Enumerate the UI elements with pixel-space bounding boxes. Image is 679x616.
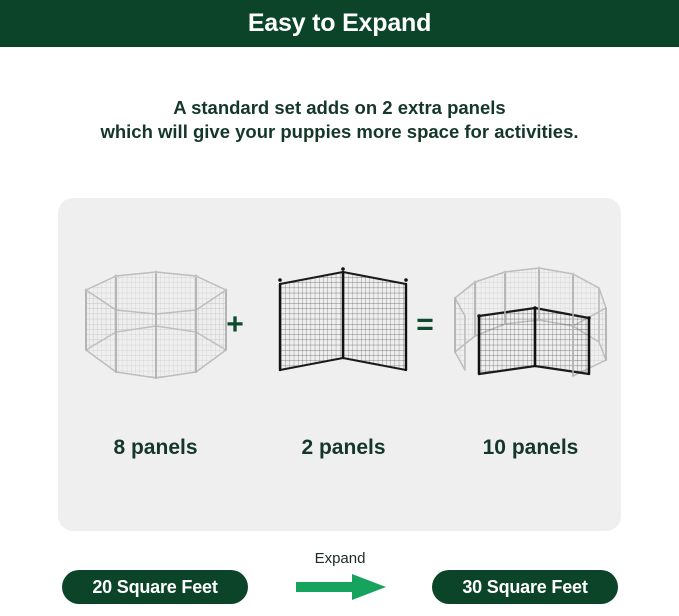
panels-2-illustration xyxy=(256,246,431,396)
octagon-playpen-8-panels-icon xyxy=(68,246,243,396)
playpen-8-panels-illustration xyxy=(68,246,243,396)
illustration-card: + = xyxy=(58,198,621,531)
expand-label: Expand xyxy=(278,550,402,567)
equals-operator-icon: = xyxy=(410,310,440,340)
playpen-10-panels-illustration xyxy=(443,246,618,396)
status-badge-30-square-feet: 30 Square Feet xyxy=(432,570,618,604)
footer-row: 20 Square Feet Expand 30 Square Feet xyxy=(0,570,679,616)
right-arrow-icon xyxy=(296,574,386,600)
plus-operator-icon: + xyxy=(220,310,250,340)
illustration-row: + = xyxy=(58,198,621,531)
expand-indicator: Expand xyxy=(278,550,402,606)
subtitle-line-1: A standard set adds on 2 extra panels xyxy=(0,96,679,120)
status-badge-20-square-feet: 20 Square Feet xyxy=(62,570,248,604)
subtitle-block: A standard set adds on 2 extra panels wh… xyxy=(0,96,679,144)
subtitle-line-2: which will give your puppies more space … xyxy=(0,120,679,144)
panel-caption-8: 8 panels xyxy=(68,436,243,460)
header-banner: Easy to Expand xyxy=(0,0,679,47)
panel-caption-2: 2 panels xyxy=(256,436,431,460)
two-panel-extension-icon xyxy=(256,246,431,396)
panel-caption-10: 10 panels xyxy=(443,436,618,460)
decagon-playpen-10-panels-icon xyxy=(443,246,618,396)
page-title: Easy to Expand xyxy=(248,11,431,36)
